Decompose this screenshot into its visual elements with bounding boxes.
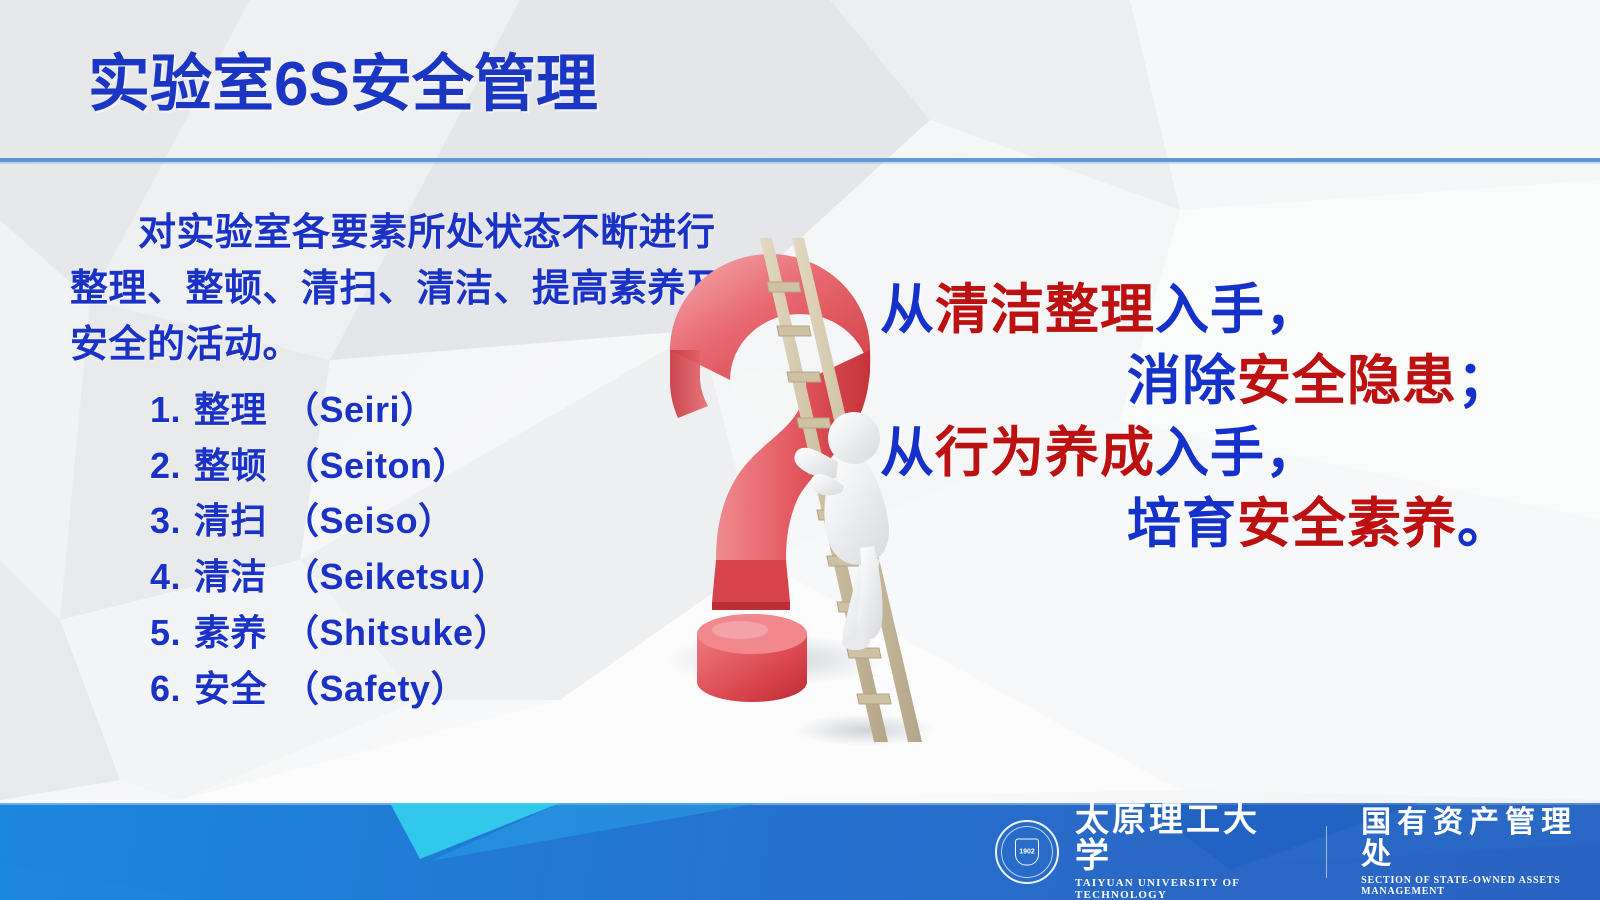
list-item-label-cn: 整理 <box>194 382 267 438</box>
header-divider-shadow <box>0 162 1600 164</box>
slogan-line-4-part-b: 安全素养 <box>1237 494 1457 554</box>
list-item-number: 5. <box>150 605 194 661</box>
slogan-line-2: 消除安全隐患； <box>880 346 1520 417</box>
list-item-number: 1. <box>150 382 194 438</box>
logo-divider <box>1326 826 1327 878</box>
department-name-en: SECTION OF STATE-OWNED ASSETS MANAGEMENT <box>1361 875 1600 897</box>
list-item-number: 2. <box>150 438 194 494</box>
list-item-label-cn: 安全 <box>194 661 267 717</box>
list-item-label-en: （Shitsuke） <box>283 605 510 661</box>
university-name-cn: 太原理工大学 <box>1075 803 1292 874</box>
slogan-line-1-part-c: 入手， <box>1155 280 1320 340</box>
seal-year: 1902 <box>1019 849 1035 856</box>
list-item-label-cn: 清扫 <box>194 493 267 549</box>
page-title: 实验室6S安全管理 <box>88 52 598 117</box>
university-name-en: TAIYUAN UNIVERSITY OF TECHNOLOGY <box>1075 877 1292 900</box>
slogan-line-3-part-a: 从 <box>880 423 935 483</box>
department-name-block: 国有资产管理处 SECTION OF STATE-OWNED ASSETS MA… <box>1361 807 1600 897</box>
slogan-line-3: 从行为养成入手， <box>880 418 1520 489</box>
slogan-line-1-part-a: 从 <box>880 280 935 340</box>
slide-canvas: 实验室6S安全管理 对实验室各要素所处状态不断进行整理、整顿、清扫、清洁、提高素… <box>0 0 1600 900</box>
slogan-block: 从清洁整理入手， 消除安全隐患； 从行为养成入手， 培育安全素养。 <box>880 275 1520 560</box>
slogan-line-1: 从清洁整理入手， <box>880 275 1520 346</box>
list-item-label-cn: 清洁 <box>194 549 267 605</box>
university-seal-icon: 1902 <box>995 820 1059 884</box>
list-item-label-en: （Seiri） <box>283 382 437 438</box>
list-item-label-cn: 整顿 <box>194 438 267 494</box>
footer-logo-lockup: 1902 太原理工大学 TAIYUAN UNIVERSITY OF TECHNO… <box>995 806 1600 898</box>
list-item-label-en: （Seiso） <box>283 493 455 549</box>
list-item-number: 6. <box>150 661 194 717</box>
list-item-label-en: （Safety） <box>283 661 467 717</box>
seal-shield-shape: 1902 <box>1015 839 1039 866</box>
slogan-line-2-part-b: 安全隐患 <box>1237 351 1457 411</box>
university-name-block: 太原理工大学 TAIYUAN UNIVERSITY OF TECHNOLOGY <box>1075 803 1292 900</box>
list-item-number: 4. <box>150 549 194 605</box>
slogan-line-4-part-a: 培育 <box>1127 494 1237 554</box>
list-item-number: 3. <box>150 493 194 549</box>
slogan-line-2-part-c: ； <box>1457 351 1512 411</box>
slogan-line-1-part-b: 清洁整理 <box>935 280 1155 340</box>
slogan-line-2-part-a: 消除 <box>1127 351 1237 411</box>
slogan-line-3-part-c: 入手， <box>1155 423 1320 483</box>
list-item-label-en: （Seiton） <box>283 438 469 494</box>
department-name-cn: 国有资产管理处 <box>1361 807 1600 870</box>
slogan-line-3-part-b: 行为养成 <box>935 423 1155 483</box>
slogan-line-4-part-c: 。 <box>1457 494 1512 554</box>
slogan-line-4: 培育安全素养。 <box>880 489 1520 560</box>
list-item-label-cn: 素养 <box>194 605 267 661</box>
list-item-label-en: （Seiketsu） <box>283 549 508 605</box>
